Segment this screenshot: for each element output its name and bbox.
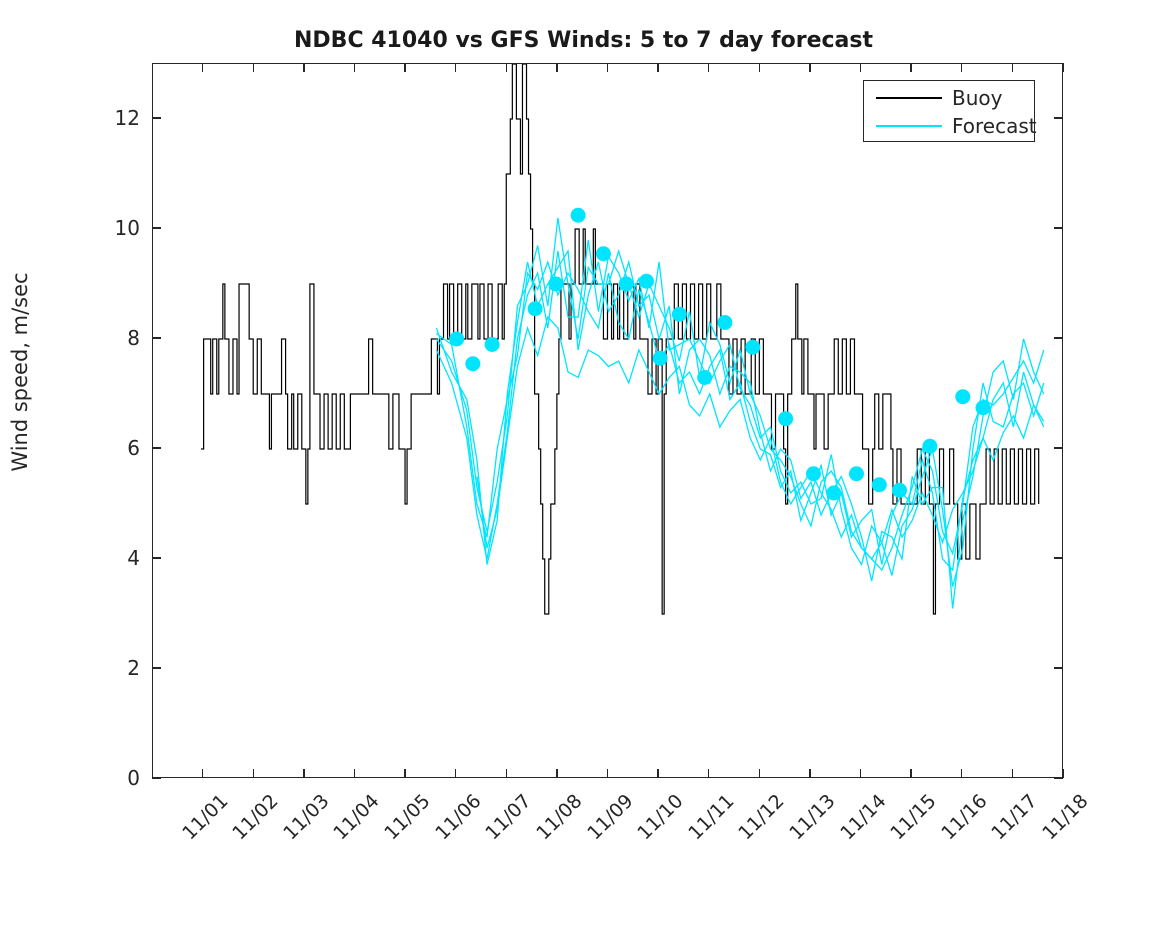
- y-tick-mark: [152, 337, 161, 338]
- series-line-0: [201, 64, 1039, 614]
- x-tick-mark: [253, 769, 254, 778]
- y-tick-label: 6: [70, 436, 140, 460]
- x-tick-mark-top: [253, 63, 254, 72]
- x-tick-mark: [455, 769, 456, 778]
- series-line-4: [436, 262, 1043, 570]
- x-tick-mark-top: [404, 63, 405, 72]
- x-tick-mark-top: [860, 63, 861, 72]
- x-tick-mark: [657, 769, 658, 778]
- x-tick-mark-top: [809, 63, 810, 72]
- forecast-marker: [639, 274, 654, 289]
- x-tick-mark: [1012, 769, 1013, 778]
- x-tick-mark-top: [910, 63, 911, 72]
- x-tick-mark-top: [759, 63, 760, 72]
- forecast-marker: [826, 486, 841, 501]
- forecast-marker: [955, 389, 970, 404]
- y-tick-mark: [152, 227, 161, 228]
- x-tick-mark: [961, 769, 962, 778]
- plot-canvas: [153, 64, 1062, 777]
- x-tick-mark: [759, 769, 760, 778]
- x-tick-mark-top: [303, 63, 304, 72]
- x-tick-mark-top: [455, 63, 456, 72]
- forecast-marker: [465, 356, 480, 371]
- y-tick-mark: [152, 777, 161, 778]
- x-tick-mark: [708, 769, 709, 778]
- x-tick-mark-top: [1062, 63, 1063, 72]
- forecast-marker: [697, 370, 712, 385]
- forecast-marker: [449, 332, 464, 347]
- series-line-2: [436, 240, 1043, 587]
- legend-label-buoy: Buoy: [952, 86, 1002, 110]
- x-tick-mark-top: [354, 63, 355, 72]
- x-tick-mark: [910, 769, 911, 778]
- y-tick-label: 10: [70, 216, 140, 240]
- forecast-marker: [922, 439, 937, 454]
- plot-area: [152, 63, 1063, 778]
- y-tick-mark-right: [1054, 447, 1063, 448]
- x-tick-mark: [354, 769, 355, 778]
- y-tick-mark-right: [1054, 117, 1063, 118]
- forecast-marker: [872, 477, 887, 492]
- forecast-marker: [485, 337, 500, 352]
- plot-clip-region: [153, 64, 1062, 777]
- x-tick-mark: [303, 769, 304, 778]
- x-tick-mark-top: [1012, 63, 1013, 72]
- forecast-marker: [806, 466, 821, 481]
- y-tick-label: 4: [70, 546, 140, 570]
- x-tick-mark-top: [607, 63, 608, 72]
- x-tick-mark: [809, 769, 810, 778]
- legend-row-forecast: Forecast: [864, 114, 1037, 138]
- forecast-marker: [745, 340, 760, 355]
- x-tick-mark: [404, 769, 405, 778]
- y-tick-label: 2: [70, 656, 140, 680]
- y-axis-label: Wind speed, m/sec: [8, 112, 32, 632]
- chart-legend: Buoy Forecast: [863, 80, 1035, 142]
- y-tick-mark: [152, 557, 161, 558]
- forecast-marker: [849, 466, 864, 481]
- chart-figure: NDBC 41040 vs GFS Winds: 5 to 7 day fore…: [0, 0, 1167, 875]
- forecast-marker: [672, 307, 687, 322]
- x-tick-mark-top: [961, 63, 962, 72]
- x-tick-mark-top: [657, 63, 658, 72]
- chart-title: NDBC 41040 vs GFS Winds: 5 to 7 day fore…: [0, 28, 1167, 53]
- y-tick-mark: [152, 667, 161, 668]
- forecast-marker: [653, 351, 668, 366]
- y-tick-mark-right: [1054, 557, 1063, 558]
- forecast-marker: [892, 483, 907, 498]
- forecast-marker: [548, 277, 563, 292]
- x-tick-mark-top: [708, 63, 709, 72]
- x-tick-mark: [202, 769, 203, 778]
- forecast-marker: [596, 246, 611, 261]
- legend-label-forecast: Forecast: [952, 114, 1037, 138]
- y-tick-label: 12: [70, 106, 140, 130]
- forecast-marker: [778, 411, 793, 426]
- x-tick-mark-top: [556, 63, 557, 72]
- x-tick-mark: [506, 769, 507, 778]
- forecast-marker: [717, 315, 732, 330]
- x-tick-mark: [607, 769, 608, 778]
- x-tick-mark: [860, 769, 861, 778]
- y-tick-mark-right: [1054, 227, 1063, 228]
- x-tick-mark: [1062, 769, 1063, 778]
- y-tick-label: 0: [70, 766, 140, 790]
- forecast-marker: [619, 277, 634, 292]
- y-tick-label: 8: [70, 326, 140, 350]
- y-tick-mark: [152, 447, 161, 448]
- legend-swatch-forecast: [876, 125, 942, 127]
- x-tick-mark: [556, 769, 557, 778]
- y-tick-mark-right: [1054, 667, 1063, 668]
- forecast-marker: [976, 400, 991, 415]
- legend-row-buoy: Buoy: [864, 86, 1002, 110]
- y-tick-mark: [152, 117, 161, 118]
- x-tick-mark-top: [506, 63, 507, 72]
- y-tick-mark-right: [1054, 337, 1063, 338]
- x-tick-mark-top: [202, 63, 203, 72]
- forecast-marker: [571, 208, 586, 223]
- forecast-marker: [528, 301, 543, 316]
- legend-swatch-buoy: [876, 97, 942, 99]
